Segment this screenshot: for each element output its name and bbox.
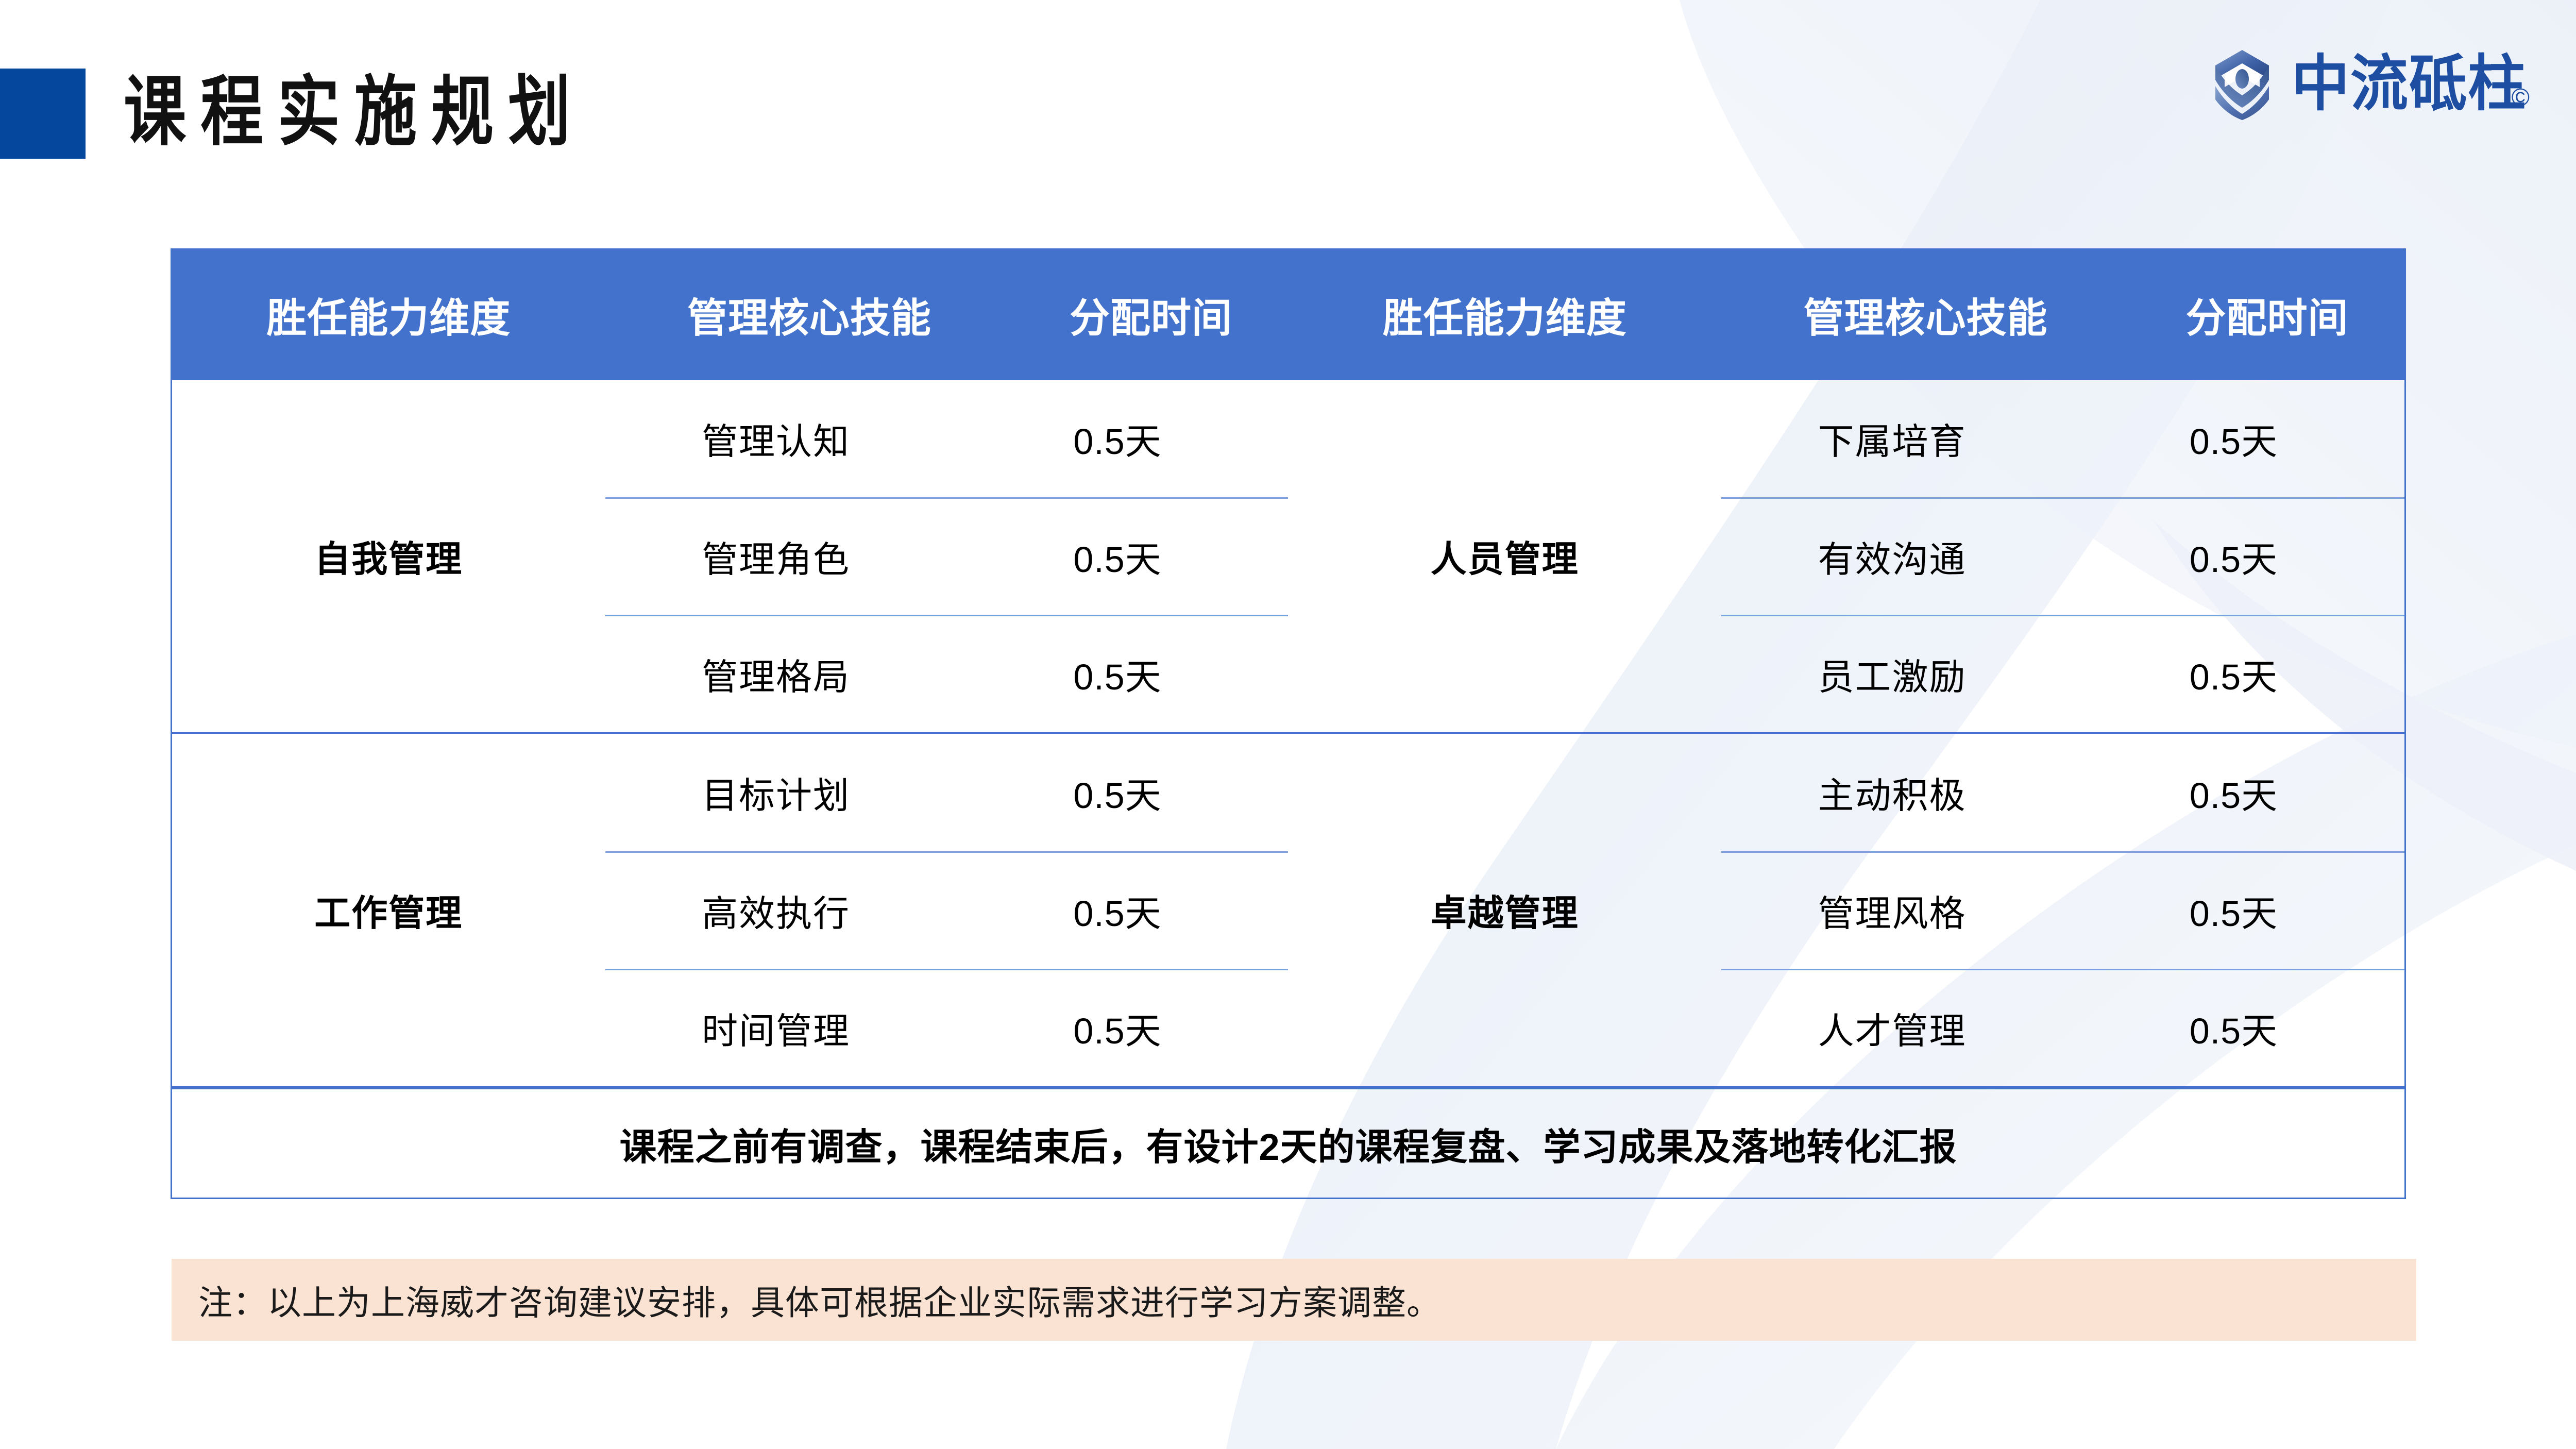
skill-rows: 主动积极 0.5天 管理风格 0.5天 人才管理 0.5天 <box>1721 734 2404 1086</box>
skill-rows: 管理认知 0.5天 管理角色 0.5天 管理格局 0.5天 <box>605 380 1289 732</box>
time-label: 0.5天 <box>2063 413 2404 465</box>
table-row: 人才管理 0.5天 <box>1721 969 2404 1086</box>
page-title: 课程实施规划 <box>124 61 585 164</box>
table-footer-row: 课程之前有调查，课程结束后，有设计2天的课程复盘、学习成果及落地转化汇报 <box>172 1088 2404 1198</box>
skill-label: 管理格局 <box>605 648 947 700</box>
group-half-left: 自我管理 管理认知 0.5天 管理角色 0.5天 管理格局 0.5天 <box>172 380 1289 732</box>
skill-label: 有效沟通 <box>1721 531 2063 583</box>
table-group-row: 自我管理 管理认知 0.5天 管理角色 0.5天 管理格局 0.5天 人员管理 <box>172 380 2404 734</box>
skill-label: 高效执行 <box>605 885 947 937</box>
time-label: 0.5天 <box>947 1002 1289 1054</box>
brand-logo: 中流砥柱 © <box>2208 45 2539 123</box>
brand-wordmark: 中流砥柱 <box>2292 52 2527 116</box>
page-header: 课程实施规划 中流砥柱 © <box>0 0 2576 170</box>
column-header-dimension-right: 胜任能力维度 <box>1288 286 1721 344</box>
table-row: 管理格局 0.5天 <box>605 615 1289 732</box>
table-row: 主动积极 0.5天 <box>1721 734 2404 851</box>
time-label: 0.5天 <box>2063 648 2404 700</box>
hexagon-leaf-emblem-icon <box>2208 48 2276 120</box>
skill-rows: 下属培育 0.5天 有效沟通 0.5天 员工激励 0.5天 <box>1721 380 2404 732</box>
title-accent-bar <box>0 69 86 159</box>
skill-rows: 目标计划 0.5天 高效执行 0.5天 时间管理 0.5天 <box>605 734 1289 1086</box>
table-row: 目标计划 0.5天 <box>605 734 1289 851</box>
course-schedule-table: 胜任能力维度 管理核心技能 分配时间 胜任能力维度 管理核心技能 分配时间 自我… <box>171 248 2406 1199</box>
group-half-left: 工作管理 目标计划 0.5天 高效执行 0.5天 时间管理 0.5天 <box>172 734 1289 1086</box>
time-label: 0.5天 <box>947 648 1289 700</box>
time-label: 0.5天 <box>2063 1002 2404 1054</box>
skill-label: 下属培育 <box>1721 413 2063 465</box>
skill-label: 人才管理 <box>1721 1002 2063 1054</box>
table-row: 下属培育 0.5天 <box>1721 380 2404 497</box>
skill-label: 时间管理 <box>605 1002 947 1054</box>
table-row: 高效执行 0.5天 <box>605 851 1289 969</box>
dimension-cell: 自我管理 <box>172 380 605 732</box>
skill-label: 管理认知 <box>605 413 947 465</box>
time-label: 0.5天 <box>947 413 1289 465</box>
skill-label: 目标计划 <box>605 767 947 819</box>
note-bar: 注：以上为上海威才咨询建议安排，具体可根据企业实际需求进行学习方案调整。 <box>172 1259 2416 1341</box>
column-header-skill-left: 管理核心技能 <box>605 286 1014 344</box>
skill-label: 管理角色 <box>605 531 947 583</box>
table-group-row: 工作管理 目标计划 0.5天 高效执行 0.5天 时间管理 0.5天 卓越管理 <box>172 734 2404 1088</box>
dimension-cell: 工作管理 <box>172 734 605 1086</box>
table-footer-text: 课程之前有调查，课程结束后，有设计2天的课程复盘、学习成果及落地转化汇报 <box>619 1117 1957 1171</box>
column-header-time-left: 分配时间 <box>1014 286 1289 344</box>
table-row: 员工激励 0.5天 <box>1721 615 2404 732</box>
note-text: 注：以上为上海威才咨询建议安排，具体可根据企业实际需求进行学习方案调整。 <box>198 1275 1441 1325</box>
skill-label: 员工激励 <box>1721 648 2063 700</box>
column-header-time-right: 分配时间 <box>2130 286 2404 344</box>
skill-label: 主动积极 <box>1721 767 2063 819</box>
time-label: 0.5天 <box>947 531 1289 583</box>
copyright-symbol: © <box>2512 86 2530 110</box>
group-half-right: 卓越管理 主动积极 0.5天 管理风格 0.5天 人才管理 0.5天 <box>1289 734 2405 1086</box>
column-header-dimension-left: 胜任能力维度 <box>172 286 605 344</box>
time-label: 0.5天 <box>2063 885 2404 937</box>
table-row: 时间管理 0.5天 <box>605 969 1289 1086</box>
time-label: 0.5天 <box>2063 531 2404 583</box>
group-half-right: 人员管理 下属培育 0.5天 有效沟通 0.5天 员工激励 0.5天 <box>1289 380 2405 732</box>
skill-label: 管理风格 <box>1721 885 2063 937</box>
time-label: 0.5天 <box>2063 767 2404 819</box>
table-row: 有效沟通 0.5天 <box>1721 497 2404 615</box>
dimension-cell: 卓越管理 <box>1289 734 1722 1086</box>
column-header-skill-right: 管理核心技能 <box>1721 286 2130 344</box>
table-row: 管理角色 0.5天 <box>605 497 1289 615</box>
table-row: 管理认知 0.5天 <box>605 380 1289 497</box>
dimension-cell: 人员管理 <box>1289 380 1722 732</box>
table-row: 管理风格 0.5天 <box>1721 851 2404 969</box>
time-label: 0.5天 <box>947 885 1289 937</box>
time-label: 0.5天 <box>947 767 1289 819</box>
table-header-row: 胜任能力维度 管理核心技能 分配时间 胜任能力维度 管理核心技能 分配时间 <box>172 250 2404 380</box>
